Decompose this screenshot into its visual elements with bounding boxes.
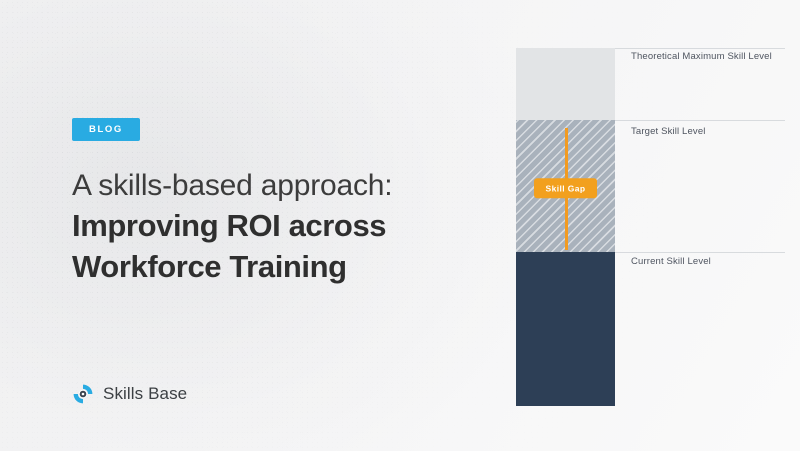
label-current-skill-level: Current Skill Level xyxy=(631,257,711,267)
bar-segment-current-skill xyxy=(516,252,615,406)
skill-gap-badge: Skill Gap xyxy=(534,178,598,198)
title-line-2: Improving ROI across xyxy=(72,205,492,246)
brand-name: Skills Base xyxy=(103,384,187,404)
label-theoretical-maximum-skill-level: Theoretical Maximum Skill Level xyxy=(631,52,772,62)
skills-base-swirl-icon xyxy=(72,383,94,405)
bar-segment-theoretical-maximum xyxy=(516,48,615,120)
title-line-3: Workforce Training xyxy=(72,246,492,287)
page-title: A skills-based approach: Improving ROI a… xyxy=(72,167,492,288)
leader-line-theoretical-maximum xyxy=(615,48,785,49)
label-target-skill-level: Target Skill Level xyxy=(631,127,706,137)
blog-badge[interactable]: BLOG xyxy=(72,118,140,141)
brand-logo: Skills Base xyxy=(72,383,187,405)
leader-line-current xyxy=(615,252,785,253)
title-line-1: A skills-based approach: xyxy=(72,167,492,205)
slide-canvas: BLOG A skills-based approach: Improving … xyxy=(0,0,800,451)
skill-gap-chart: Skill Gap xyxy=(516,48,615,406)
leader-line-target xyxy=(615,120,785,121)
hero-text-block: BLOG A skills-based approach: Improving … xyxy=(72,118,492,287)
